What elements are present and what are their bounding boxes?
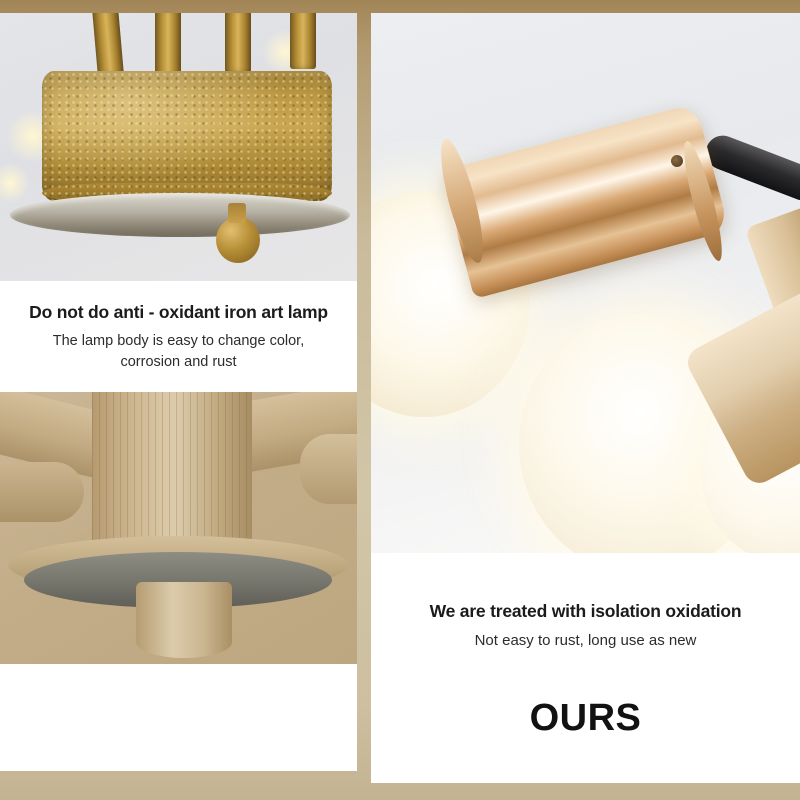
wood-cylinder-stub <box>136 582 232 658</box>
wood-lamp-panel: No isolated wood lamp is made Easy to co… <box>0 392 357 771</box>
iron-rod <box>225 13 251 73</box>
iron-lamp-title: Do not do anti - oxidant iron art lamp <box>0 302 357 324</box>
corrosion-texture <box>42 71 332 201</box>
wood-grain-texture <box>92 392 252 550</box>
iron-lamp-panel: Do not do anti - oxidant iron art lamp T… <box>0 13 357 392</box>
iron-lamp-subtitle-line2: corrosion and rust <box>0 352 357 373</box>
iron-lamp-photo <box>0 13 357 281</box>
wood-lamp-photo <box>0 392 357 664</box>
iron-lamp-subtitle-line1: The lamp body is easy to change color, <box>0 331 357 352</box>
iron-rod <box>92 13 124 76</box>
iron-lamp-subtitle: The lamp body is easy to change color, c… <box>0 331 357 373</box>
ours-panel: We are treated with isolation oxidation … <box>371 13 800 783</box>
iron-ball-finial <box>216 217 260 263</box>
bokeh-light <box>0 163 30 203</box>
ours-badge: OURS <box>371 697 800 740</box>
iron-lamp-caption: Do not do anti - oxidant iron art lamp T… <box>0 302 357 373</box>
iron-rod <box>290 13 316 69</box>
iron-rod <box>155 13 181 77</box>
wood-arm-stub <box>0 462 84 522</box>
ours-title: We are treated with isolation oxidation <box>371 601 800 623</box>
ours-caption: We are treated with isolation oxidation … <box>371 601 800 652</box>
ours-subtitle: Not easy to rust, long use as new <box>371 630 800 652</box>
iron-disc-rim <box>10 193 350 237</box>
wood-arm-stub <box>300 434 357 504</box>
product-comparison-frame: Do not do anti - oxidant iron art lamp T… <box>0 0 800 800</box>
ours-product-photo <box>371 13 800 553</box>
rose-gold-socket <box>440 103 729 299</box>
